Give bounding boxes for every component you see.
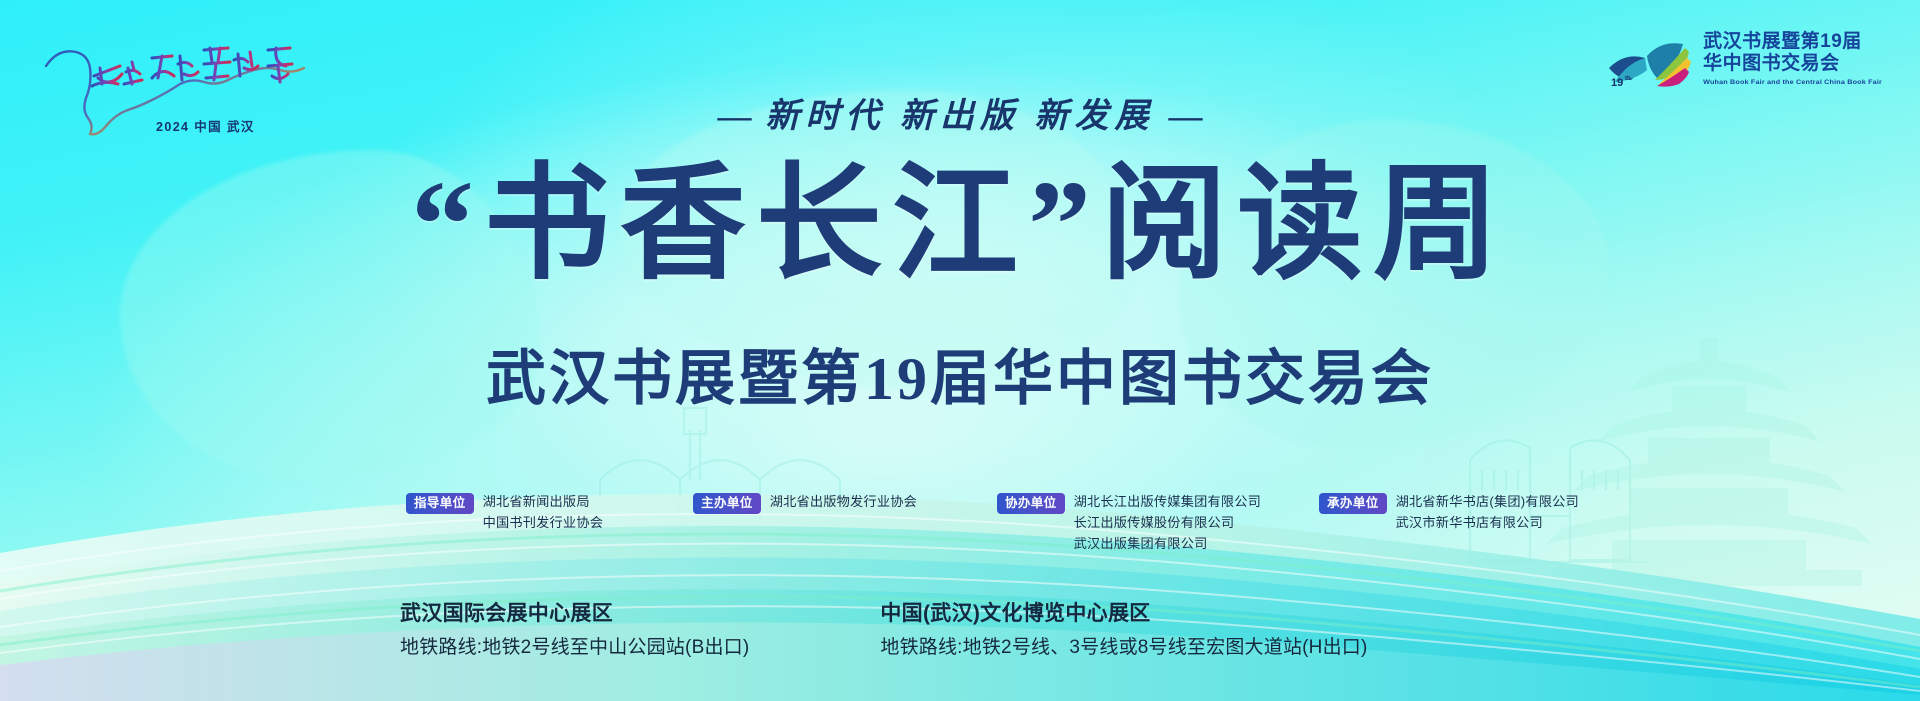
credit-line: 长江出版传媒股份有限公司 — [1074, 513, 1261, 532]
venue-name: 武汉国际会展中心展区 — [400, 597, 749, 627]
promotional-banner: 2024 中国 武汉 19 th 武汉书展暨第19届 华中图书交易会 — [0, 0, 1920, 701]
tagline-text: 新时代 新出版 新发展 — [766, 98, 1155, 135]
venue-name: 中国(武汉)文化博览中心展区 — [880, 597, 1367, 627]
sub-title: 武汉书展暨第19届华中图书交易会 — [0, 330, 1920, 417]
credit-block-coorganizer: 协办单位 湖北长江出版传媒集团有限公司 长江出版传媒股份有限公司 武汉出版集团有… — [997, 492, 1261, 553]
venue-block-2: 中国(武汉)文化博览中心展区 地铁路线:地铁2号线、3号线或8号线至宏图大道站(… — [880, 597, 1367, 659]
credit-lines: 湖北长江出版传媒集团有限公司 长江出版传媒股份有限公司 武汉出版集团有限公司 — [1074, 492, 1261, 553]
fair-logo-english: Wuhan Book Fair and the Central China Bo… — [1703, 77, 1882, 86]
credit-lines: 湖北省出版物发行业协会 — [770, 492, 917, 511]
credit-line: 武汉市新华书店有限公司 — [1396, 513, 1579, 532]
venue-spacer — [749, 597, 880, 659]
venue-info: 武汉国际会展中心展区 地铁路线:地铁2号线至中山公园站(B出口) 中国(武汉)文… — [400, 597, 1368, 659]
credit-block-host: 主办单位 湖北省出版物发行业协会 — [693, 492, 917, 514]
tagline-dash-right: — — [1155, 98, 1217, 135]
open-book-icon: 19 th — [1601, 28, 1693, 90]
main-title: “书香长江”阅读周 — [0, 155, 1920, 296]
credit-line: 湖北省新华书店(集团)有限公司 — [1396, 492, 1579, 511]
credit-block-guidance: 指导单位 湖北省新闻出版局 中国书刊发行业协会 — [406, 492, 603, 532]
credit-badge: 指导单位 — [406, 493, 474, 514]
svg-text:th: th — [1625, 76, 1631, 82]
credit-line: 武汉出版集团有限公司 — [1074, 534, 1261, 553]
fair-logo-line2: 华中图书交易会 — [1703, 54, 1882, 75]
event-tagline: —新时代 新出版 新发展— — [0, 88, 1920, 137]
book-fair-logo: 19 th 武汉书展暨第19届 华中图书交易会 Wuhan Book Fair … — [1601, 28, 1882, 90]
venue-block-1: 武汉国际会展中心展区 地铁路线:地铁2号线至中山公园站(B出口) — [400, 597, 749, 659]
tagline-dash-left: — — [704, 98, 766, 135]
credit-block-undertaker: 承办单位 湖北省新华书店(集团)有限公司 武汉市新华书店有限公司 — [1319, 492, 1579, 532]
credit-badge: 协办单位 — [997, 493, 1065, 514]
credit-line: 湖北省新闻出版局 — [483, 492, 604, 511]
credit-line: 湖北长江出版传媒集团有限公司 — [1074, 492, 1261, 511]
credit-line: 中国书刊发行业协会 — [483, 513, 604, 532]
credit-badge: 承办单位 — [1319, 493, 1387, 514]
organizer-credits: 指导单位 湖北省新闻出版局 中国书刊发行业协会 主办单位 湖北省出版物发行业协会… — [406, 492, 1579, 553]
fair-logo-line1: 武汉书展暨第19届 — [1703, 32, 1882, 53]
venue-route: 地铁路线:地铁2号线、3号线或8号线至宏图大道站(H出口) — [880, 632, 1367, 659]
credit-lines: 湖北省新华书店(集团)有限公司 武汉市新华书店有限公司 — [1396, 492, 1579, 532]
venue-route: 地铁路线:地铁2号线至中山公园站(B出口) — [400, 632, 749, 659]
credit-line: 湖北省出版物发行业协会 — [770, 492, 917, 511]
credit-badge: 主办单位 — [693, 493, 761, 514]
credit-lines: 湖北省新闻出版局 中国书刊发行业协会 — [483, 492, 604, 532]
